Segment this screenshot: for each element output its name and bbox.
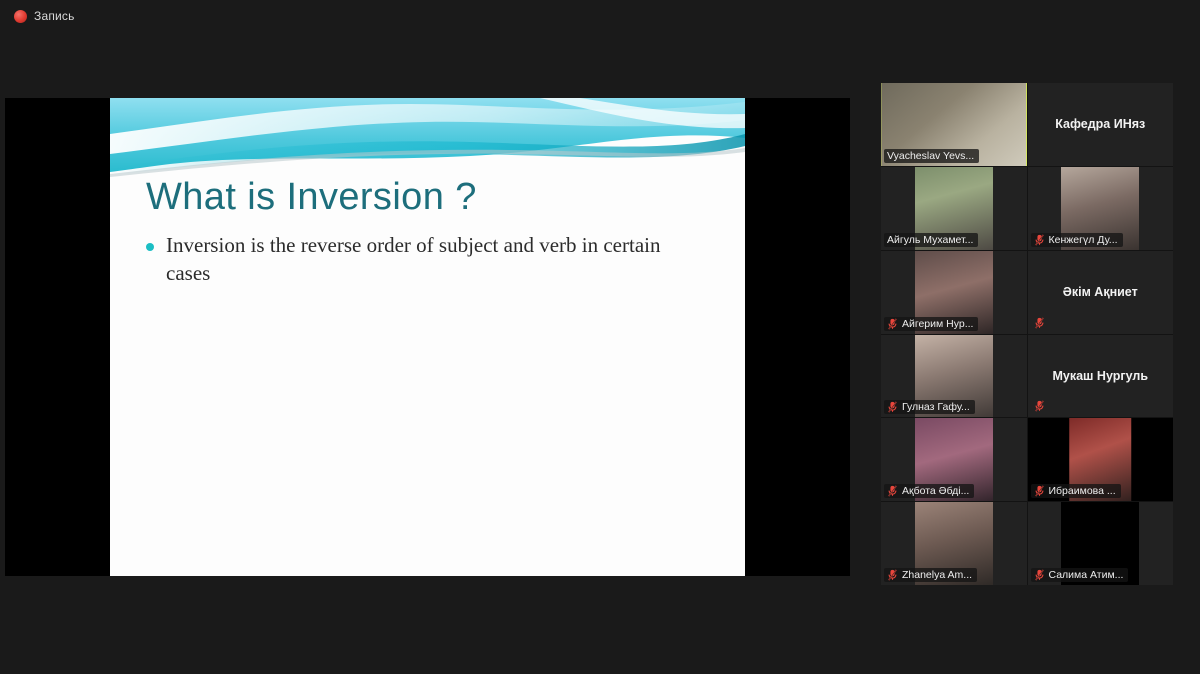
participant-name: Кенжегүл Ду... (1049, 234, 1118, 246)
participant-name: Гулназ Гафу... (902, 401, 970, 413)
mic-muted-icon (1034, 317, 1045, 329)
participant-name: Кафедра ИНяз (1028, 117, 1174, 131)
participant-tile[interactable]: Мукаш Нургуль (1028, 335, 1174, 418)
participant-tile[interactable]: Гулназ Гафу... (881, 335, 1027, 418)
participant-tile[interactable]: Кенжегүл Ду... (1028, 167, 1174, 250)
mic-muted-icon (887, 569, 898, 581)
slide-bullet-item: Inversion is the reverse order of subjec… (146, 232, 708, 287)
participant-nameplate: Салима Атим... (1031, 568, 1129, 582)
participant-tile[interactable]: Кафедра ИНяз (1028, 83, 1174, 166)
mic-muted-icon (887, 318, 898, 330)
participant-name: Салима Атим... (1049, 569, 1124, 581)
participant-tile[interactable]: Ибраимова ... (1028, 418, 1174, 501)
participant-nameplate: Кенжегүл Ду... (1031, 233, 1123, 247)
participant-name: Zhanelya Am... (902, 569, 972, 581)
slide-wave-decoration (110, 98, 745, 178)
shared-screen-stage[interactable]: What is Inversion ? Inversion is the rev… (5, 98, 850, 576)
slide-bullet-text: Inversion is the reverse order of subjec… (166, 232, 708, 287)
participant-filmstrip[interactable]: Vyacheslav Yevs...Кафедра ИНязАйгуль Мух… (881, 83, 1173, 585)
participant-nameplate: Ибраимова ... (1031, 484, 1121, 498)
participant-nameplate: Vyacheslav Yevs... (884, 149, 979, 163)
participant-name: Әкім Ақниет (1028, 285, 1174, 299)
presentation-slide: What is Inversion ? Inversion is the rev… (110, 98, 745, 576)
participant-name: Мукаш Нургуль (1028, 369, 1174, 383)
participant-name: Айгуль Мухамет... (887, 234, 973, 246)
participant-nameplate: Айгуль Мухамет... (884, 233, 978, 247)
participant-name: Ибраимова ... (1049, 485, 1116, 497)
participant-tile[interactable]: Zhanelya Am... (881, 502, 1027, 585)
bullet-dot-icon (146, 243, 154, 251)
participant-nameplate: Айгерим Нур... (884, 317, 978, 331)
participant-tile[interactable]: Айгерим Нур... (881, 251, 1027, 334)
participant-name: Ақбота Әбді... (902, 485, 969, 497)
participant-tile[interactable]: Салима Атим... (1028, 502, 1174, 585)
slide-title: What is Inversion ? (146, 176, 477, 219)
participant-name: Vyacheslav Yevs... (887, 150, 974, 162)
participant-name: Айгерим Нур... (902, 318, 973, 330)
participant-nameplate: Ақбота Әбді... (884, 484, 974, 498)
mic-muted-icon (1034, 569, 1045, 581)
mic-muted-icon (887, 485, 898, 497)
mic-muted-icon (887, 401, 898, 413)
recording-indicator: Запись (14, 9, 75, 23)
participant-tile[interactable]: Әкім Ақниет (1028, 251, 1174, 334)
mic-muted-icon (1034, 485, 1045, 497)
recording-bar: Запись (0, 0, 1200, 32)
participant-tile[interactable]: Vyacheslav Yevs... (881, 83, 1027, 166)
participant-nameplate: Zhanelya Am... (884, 568, 977, 582)
participant-tile[interactable]: Ақбота Әбді... (881, 418, 1027, 501)
mic-muted-icon (1034, 400, 1045, 412)
record-dot-icon (14, 10, 27, 23)
mic-muted-icon (1034, 234, 1045, 246)
recording-label: Запись (34, 9, 75, 23)
participant-tile[interactable]: Айгуль Мухамет... (881, 167, 1027, 250)
participant-nameplate: Гулназ Гафу... (884, 400, 975, 414)
